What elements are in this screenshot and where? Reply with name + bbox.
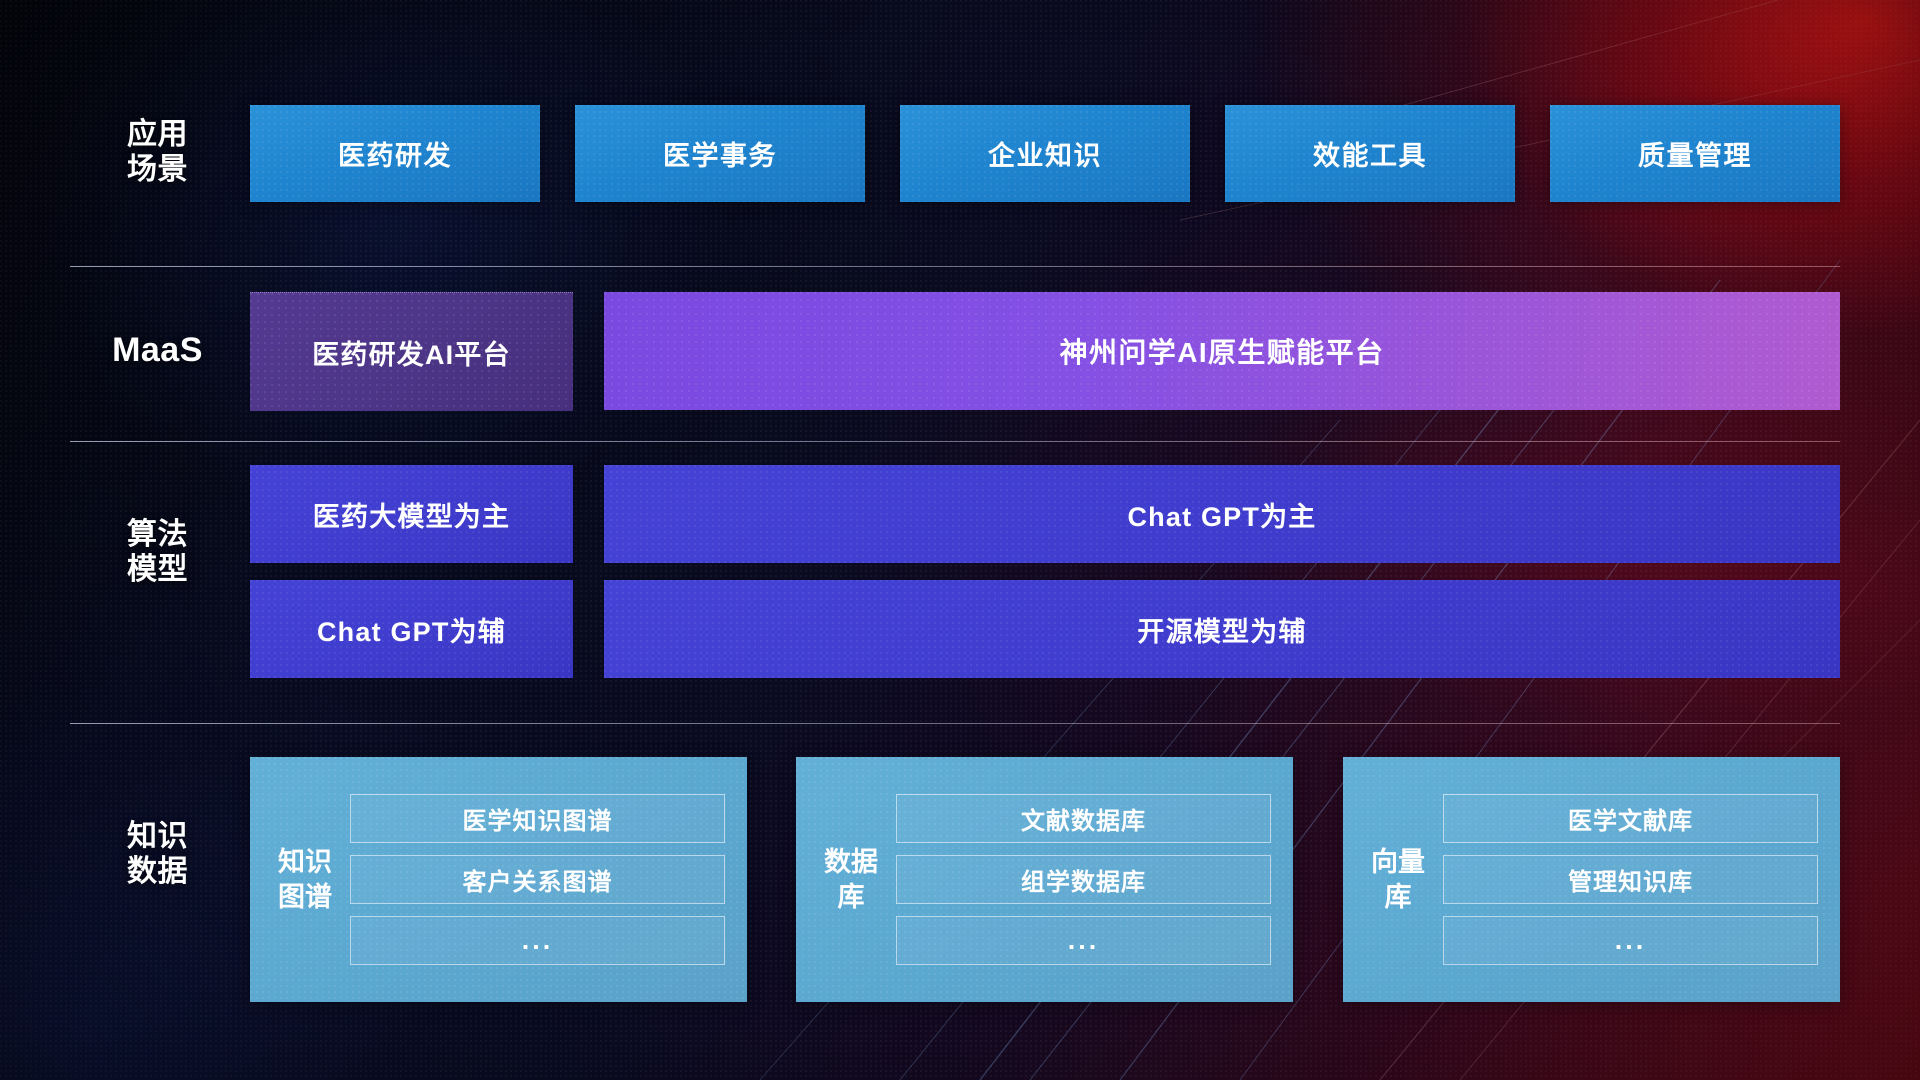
knowledge-items-database: 文献数据库 组学数据库 ... — [884, 794, 1293, 965]
tier-label-application-scenarios: 应用 场景 — [70, 117, 245, 188]
knowledge-item-graph-2[interactable]: 客户关系图谱 — [350, 855, 725, 904]
tier-label-algo-line-1: 算法 — [70, 517, 245, 552]
tier-label-maas: MaaS — [70, 330, 245, 370]
algo-label-right-row2: 开源模型为辅 — [1137, 610, 1306, 649]
app-scenario-box-2[interactable]: 医学事务 — [575, 105, 865, 202]
knowledge-item-graph-1[interactable]: 医学知识图谱 — [350, 794, 725, 843]
app-scenario-box-1[interactable]: 医药研发 — [250, 105, 540, 202]
knowledge-item-graph-3[interactable]: ... — [350, 916, 725, 965]
maas-platform-label-shenzhou: 神州问学AI原生赋能平台 — [1060, 331, 1385, 371]
knowledge-item-vector-1[interactable]: 医学文献库 — [1443, 794, 1818, 843]
knowledge-item-database-3[interactable]: ... — [896, 916, 1271, 965]
divider-2 — [70, 441, 1840, 442]
algo-label-left-row2: Chat GPT为辅 — [317, 610, 506, 649]
algo-box-right-row2[interactable]: 开源模型为辅 — [604, 580, 1840, 678]
knowledge-panel-title-database: 数据库 — [818, 845, 884, 914]
knowledge-items-graph: 医学知识图谱 客户关系图谱 ... — [338, 794, 747, 965]
tier-label-knowledge-line-1: 知识 — [70, 819, 245, 854]
diagram-canvas: 应用 场景 医药研发 医学事务 企业知识 效能工具 质量管理 MaaS — [0, 0, 1920, 1080]
app-scenario-label-3: 企业知识 — [988, 134, 1102, 173]
divider-3 — [70, 723, 1840, 724]
maas-platform-box-pharma[interactable]: 医药研发AI平台 — [250, 292, 573, 411]
app-scenario-label-2: 医学事务 — [663, 134, 777, 173]
app-scenario-box-4[interactable]: 效能工具 — [1225, 105, 1515, 202]
tier-label-maas-text: MaaS — [70, 330, 245, 370]
tier-label-line-1: 应用 — [70, 117, 245, 152]
tier-label-algorithm-models: 算法 模型 — [70, 517, 245, 588]
maas-platform-box-shenzhou[interactable]: 神州问学AI原生赋能平台 — [604, 292, 1840, 410]
knowledge-panel-title-vector: 向量库 — [1365, 845, 1431, 914]
algo-label-right-row1: Chat GPT为主 — [1127, 495, 1316, 534]
knowledge-item-database-2[interactable]: 组学数据库 — [896, 855, 1271, 904]
tier-label-line-2: 场景 — [70, 152, 245, 187]
knowledge-item-vector-2[interactable]: 管理知识库 — [1443, 855, 1818, 904]
tier-label-knowledge-data: 知识 数据 — [70, 819, 245, 890]
algo-box-left-row2[interactable]: Chat GPT为辅 — [250, 580, 573, 678]
app-scenario-label-1: 医药研发 — [338, 134, 452, 173]
algo-box-left-row1[interactable]: 医药大模型为主 — [250, 465, 573, 563]
divider-1 — [70, 266, 1840, 267]
knowledge-panel-graph[interactable]: 知识图谱 医学知识图谱 客户关系图谱 ... — [250, 757, 747, 1002]
knowledge-panel-vector[interactable]: 向量库 医学文献库 管理知识库 ... — [1343, 757, 1840, 1002]
app-scenario-label-4: 效能工具 — [1313, 134, 1427, 173]
app-scenario-box-3[interactable]: 企业知识 — [900, 105, 1190, 202]
knowledge-panel-database[interactable]: 数据库 文献数据库 组学数据库 ... — [796, 757, 1293, 1002]
app-scenario-label-5: 质量管理 — [1638, 134, 1752, 173]
app-scenario-box-5[interactable]: 质量管理 — [1550, 105, 1840, 202]
tier-label-knowledge-line-2: 数据 — [70, 854, 245, 889]
algo-box-right-row1[interactable]: Chat GPT为主 — [604, 465, 1840, 563]
knowledge-panel-title-graph: 知识图谱 — [272, 845, 338, 914]
knowledge-item-database-1[interactable]: 文献数据库 — [896, 794, 1271, 843]
tier-label-algo-line-2: 模型 — [70, 552, 245, 587]
maas-platform-label-pharma: 医药研发AI平台 — [312, 333, 511, 372]
knowledge-item-vector-3[interactable]: ... — [1443, 916, 1818, 965]
algo-label-left-row1: 医药大模型为主 — [313, 495, 510, 534]
knowledge-items-vector: 医学文献库 管理知识库 ... — [1431, 794, 1840, 965]
